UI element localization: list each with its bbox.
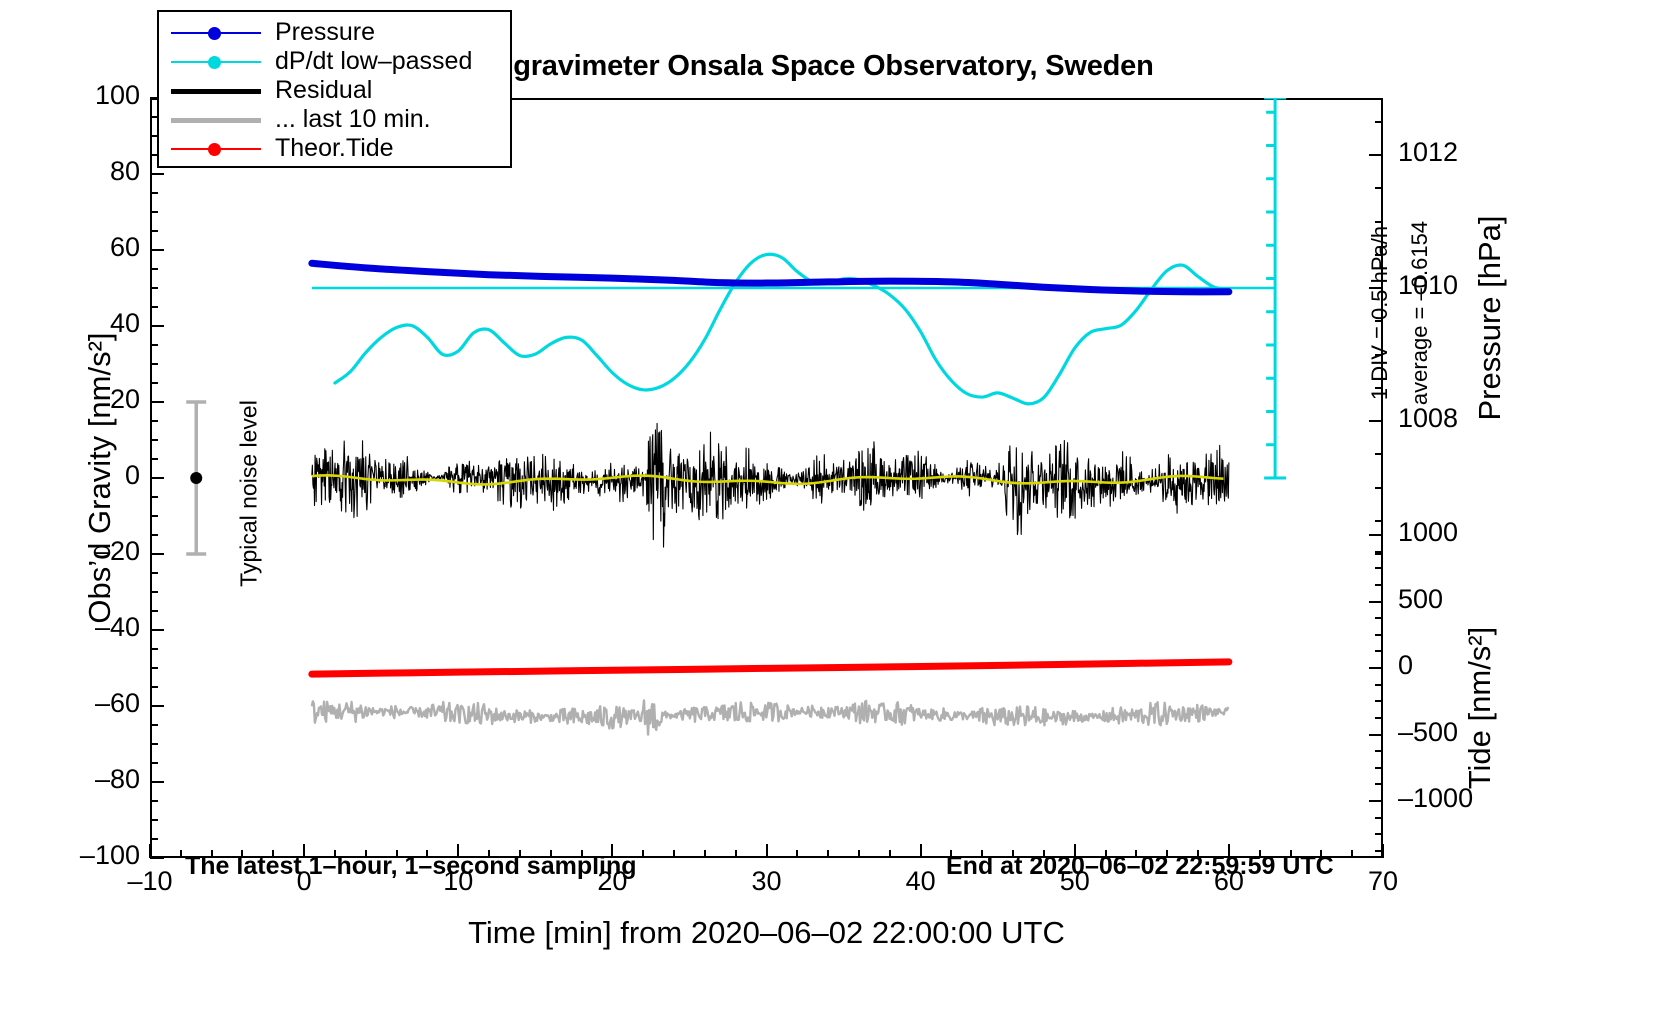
tick-mark — [150, 572, 158, 574]
tick-mark — [149, 844, 151, 858]
y-tick-label-left: –80 — [20, 764, 140, 795]
y-tick-label-pressure: 1012 — [1398, 137, 1538, 168]
y-tick-label-tide: –1000 — [1398, 783, 1538, 814]
tick-mark — [1375, 767, 1383, 769]
tick-mark — [150, 211, 158, 213]
tick-mark — [1375, 121, 1383, 123]
tick-mark — [735, 850, 737, 858]
tick-mark — [150, 344, 158, 346]
y-tick-label-left: –60 — [20, 688, 140, 719]
x-axis-label: Time [min] from 2020–06–02 22:00:00 UTC — [150, 915, 1383, 951]
tick-mark — [150, 534, 158, 536]
tick-mark — [150, 401, 164, 403]
tick-mark — [1375, 453, 1383, 455]
tick-mark — [704, 850, 706, 858]
tick-mark — [1375, 187, 1383, 189]
y-tick-label-left: 0 — [20, 460, 140, 491]
tick-mark — [150, 857, 164, 859]
y-axis-label-pressure: Pressure [hPa] — [1472, 108, 1508, 528]
tick-mark — [180, 850, 182, 858]
tick-mark — [673, 850, 675, 858]
tick-mark — [1375, 750, 1383, 752]
legend-line-icon — [171, 89, 261, 94]
tick-mark — [1375, 584, 1383, 586]
tick-mark — [150, 287, 158, 289]
tick-mark — [150, 477, 164, 479]
tick-mark — [150, 762, 158, 764]
tick-mark — [1375, 850, 1383, 852]
tick-mark — [1369, 534, 1383, 536]
tick-mark — [150, 325, 164, 327]
tick-mark — [150, 819, 158, 821]
tick-mark — [920, 844, 922, 858]
legend-label: Pressure — [275, 18, 375, 47]
tick-mark — [150, 515, 158, 517]
legend-dot-icon — [208, 56, 221, 69]
y-tick-label-left: 40 — [20, 308, 140, 339]
tick-mark — [150, 781, 164, 783]
tick-mark — [1351, 850, 1353, 858]
legend: PressuredP/dt low–passedResidual... last… — [157, 10, 512, 168]
tick-mark — [642, 850, 644, 858]
tick-mark — [1375, 783, 1383, 785]
legend-item[interactable]: Residual — [159, 76, 510, 105]
tick-mark — [150, 439, 158, 441]
tick-mark — [1375, 700, 1383, 702]
x-tick-label: 30 — [707, 866, 827, 897]
legend-item[interactable]: dP/dt low–passed — [159, 47, 510, 76]
tick-mark — [150, 743, 158, 745]
tick-mark — [150, 382, 158, 384]
tick-mark — [1375, 833, 1383, 835]
tick-mark — [150, 268, 158, 270]
series-last-10-min — [312, 701, 1229, 735]
tick-mark — [150, 173, 164, 175]
y-tick-label-tide: 1000 — [1398, 517, 1538, 548]
tick-mark — [150, 192, 158, 194]
legend-label: ... last 10 min. — [275, 105, 431, 134]
tick-mark — [150, 610, 158, 612]
y-tick-label-tide: –500 — [1398, 717, 1538, 748]
tick-mark — [150, 800, 158, 802]
tick-mark — [150, 724, 158, 726]
tick-mark — [1369, 154, 1383, 156]
tick-mark — [1375, 634, 1383, 636]
y-tick-label-left: 20 — [20, 384, 140, 415]
tick-mark — [889, 850, 891, 858]
series-residual — [312, 423, 1229, 547]
y-tick-label-left: 80 — [20, 156, 140, 187]
tick-mark — [1375, 567, 1383, 569]
y-tick-label-left: –40 — [20, 612, 140, 643]
noise-bar-center-dot — [190, 472, 202, 484]
legend-label: Theor.Tide — [275, 134, 394, 163]
annotation-div-scale: 1 DIV = 0.5 hPa/h — [1367, 203, 1393, 423]
annotation-noise-level: Typical noise level — [236, 379, 263, 609]
legend-swatch-icon — [171, 23, 261, 43]
chart-canvas — [150, 98, 1383, 858]
tick-mark — [150, 629, 164, 631]
tick-mark — [150, 420, 158, 422]
tick-mark — [1375, 551, 1383, 553]
tick-mark — [150, 496, 158, 498]
tick-mark — [1375, 617, 1383, 619]
tick-mark — [150, 705, 164, 707]
legend-swatch-icon — [171, 52, 261, 72]
y-tick-label-tide: 0 — [1398, 650, 1538, 681]
legend-label: dP/dt low–passed — [275, 47, 472, 76]
tick-mark — [150, 648, 158, 650]
tick-mark — [150, 667, 158, 669]
legend-swatch-icon — [171, 81, 261, 101]
tick-mark — [858, 850, 860, 858]
tick-mark — [150, 591, 158, 593]
annotation-end-time: End at 2020–06–02 22:59:59 UTC — [946, 852, 1334, 881]
legend-line-icon — [171, 118, 261, 123]
tick-mark — [1375, 684, 1383, 686]
tick-mark — [150, 686, 158, 688]
tick-mark — [1375, 817, 1383, 819]
tick-mark — [1375, 717, 1383, 719]
legend-label: Residual — [275, 76, 372, 105]
tick-mark — [1369, 800, 1383, 802]
series-theor-tide — [312, 662, 1229, 674]
y-axis-label-tide: Tide [nm/s²] — [1462, 518, 1498, 898]
legend-item[interactable]: Pressure — [159, 18, 510, 47]
tick-mark — [150, 553, 164, 555]
tick-mark — [1375, 553, 1383, 555]
tick-mark — [827, 850, 829, 858]
tick-mark — [1369, 734, 1383, 736]
tick-mark — [1375, 650, 1383, 652]
legend-dot-icon — [208, 27, 221, 40]
tick-mark — [1375, 520, 1383, 522]
y-tick-label-left: –100 — [20, 840, 140, 871]
legend-dot-icon — [208, 143, 221, 156]
y-tick-label-left: 100 — [20, 80, 140, 111]
y-tick-label-tide: 500 — [1398, 584, 1538, 615]
tick-mark — [796, 850, 798, 858]
tick-mark — [150, 306, 158, 308]
tick-mark — [150, 458, 158, 460]
legend-swatch-icon — [171, 110, 261, 130]
legend-item[interactable]: ... last 10 min. — [159, 105, 510, 134]
annotation-average: average = –0.6154 — [1407, 203, 1433, 423]
legend-swatch-icon — [171, 139, 261, 159]
tick-mark — [1369, 601, 1383, 603]
tick-mark — [766, 844, 768, 858]
legend-item[interactable]: Theor.Tide — [159, 134, 510, 163]
tick-mark — [150, 838, 158, 840]
annotation-sampling: The latest 1–hour, 1–second sampling — [185, 852, 637, 881]
tick-mark — [150, 230, 158, 232]
tick-mark — [150, 249, 164, 251]
x-tick-label: 70 — [1323, 866, 1443, 897]
tick-mark — [1375, 487, 1383, 489]
y-tick-label-left: 60 — [20, 232, 140, 263]
tick-mark — [150, 363, 158, 365]
tick-mark — [1369, 667, 1383, 669]
y-tick-label-left: –20 — [20, 536, 140, 567]
